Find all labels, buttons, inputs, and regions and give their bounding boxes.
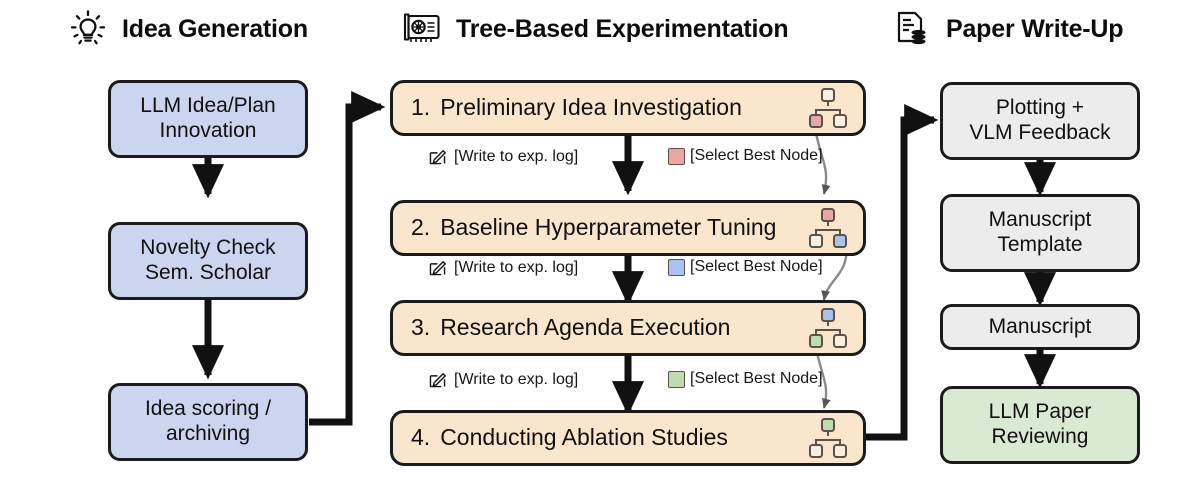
annotation-label: [Select Best Node] [690, 370, 823, 388]
box-label: Preliminary Idea Investigation [440, 94, 742, 121]
section-header-experimentation: Tree-Based Experimentation [400, 6, 788, 52]
box-label: Manuscript [989, 315, 1092, 340]
annotation-select-best-node: [Select Best Node] [668, 370, 823, 388]
section-title: Idea Generation [122, 15, 308, 44]
annotation-label: [Select Best Node] [690, 147, 823, 165]
lightbulb-icon [66, 7, 110, 51]
box-novelty-check[interactable]: Novelty Check Sem. Scholar [108, 222, 308, 300]
box-label: Novelty Check Sem. Scholar [140, 236, 275, 286]
box-plotting-vlm-feedback[interactable]: Plotting + VLM Feedback [940, 82, 1140, 160]
box-baseline-hyperparameter-tuning[interactable]: 2. Baseline Hyperparameter Tuning [390, 200, 866, 256]
box-preliminary-idea-investigation[interactable]: 1. Preliminary Idea Investigation [390, 80, 866, 136]
section-title: Paper Write-Up [946, 15, 1123, 44]
section-header-idea-generation: Idea Generation [66, 6, 308, 52]
section-header-paper-write-up: Paper Write-Up [890, 6, 1123, 52]
tree-icon [805, 205, 851, 251]
annotation-label: [Write to exp. log] [454, 148, 578, 166]
box-idea-scoring-archiving[interactable]: Idea scoring / archiving [108, 383, 308, 461]
gpu-card-icon [400, 7, 444, 51]
annotation-select-best-node: [Select Best Node] [668, 258, 823, 276]
step-number: 2. [411, 214, 430, 241]
box-label: LLM Paper Reviewing [989, 400, 1092, 450]
tree-icon [805, 85, 851, 131]
box-label: Conducting Ablation Studies [440, 424, 728, 451]
box-label: Idea scoring / archiving [145, 397, 271, 447]
tree-icon [805, 415, 851, 461]
box-label: Plotting + VLM Feedback [969, 96, 1110, 146]
box-llm-paper-reviewing[interactable]: LLM Paper Reviewing [940, 386, 1140, 464]
box-manuscript-template[interactable]: Manuscript Template [940, 194, 1140, 272]
pencil-edit-icon [428, 370, 447, 389]
node-color-swatch [668, 371, 685, 388]
pipeline-diagram: Idea Generation Tree-Based Experimentati… [0, 0, 1200, 488]
box-research-agenda-execution[interactable]: 3. Research Agenda Execution [390, 300, 866, 356]
box-label: Baseline Hyperparameter Tuning [440, 214, 776, 241]
pencil-edit-icon [428, 258, 447, 277]
step-number: 3. [411, 314, 430, 341]
box-llm-idea-plan-innovation[interactable]: LLM Idea/Plan Innovation [108, 80, 308, 158]
section-title: Tree-Based Experimentation [456, 15, 788, 44]
annotation-select-best-node: [Select Best Node] [668, 147, 823, 165]
box-conducting-ablation-studies[interactable]: 4. Conducting Ablation Studies [390, 410, 866, 466]
box-label: LLM Idea/Plan Innovation [140, 94, 275, 144]
box-manuscript[interactable]: Manuscript [940, 304, 1140, 350]
tree-icon [805, 305, 851, 351]
annotation-label: [Select Best Node] [690, 258, 823, 276]
annotation-write-to-exp-log: [Write to exp. log] [428, 370, 578, 389]
node-color-swatch [668, 148, 685, 165]
box-label: Research Agenda Execution [440, 314, 730, 341]
step-number: 4. [411, 424, 430, 451]
node-color-swatch [668, 259, 685, 276]
document-database-icon [890, 7, 934, 51]
annotation-label: [Write to exp. log] [454, 259, 578, 277]
box-label: Manuscript Template [989, 208, 1092, 258]
annotation-write-to-exp-log: [Write to exp. log] [428, 258, 578, 277]
annotation-label: [Write to exp. log] [454, 371, 578, 389]
step-number: 1. [411, 94, 430, 121]
pencil-edit-icon [428, 147, 447, 166]
annotation-write-to-exp-log: [Write to exp. log] [428, 147, 578, 166]
